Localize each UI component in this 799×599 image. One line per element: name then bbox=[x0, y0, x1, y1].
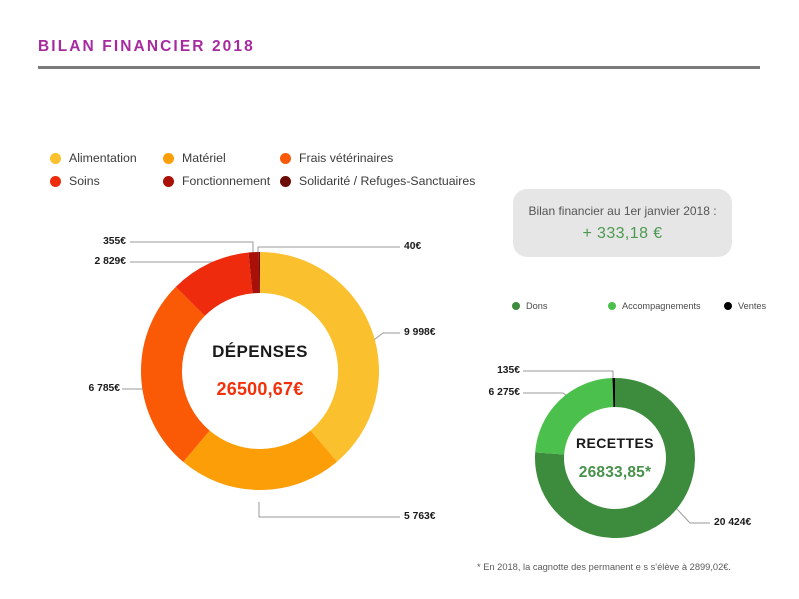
legend-label: Matériel bbox=[182, 151, 226, 165]
balance-summary-box: Bilan financier au 1er janvier 2018 : + … bbox=[513, 189, 732, 257]
legend-label: Accompagnements bbox=[622, 301, 701, 311]
callout-soins: 2 829€ bbox=[66, 256, 126, 267]
callout-frais-veterinaires: 6 785€ bbox=[60, 383, 120, 394]
legend-dot-icon bbox=[280, 153, 291, 164]
expenses-slice-frais-v-t-rinaires bbox=[162, 301, 197, 446]
expenses-legend: Alimentation Matériel Frais vétérinaires… bbox=[50, 148, 480, 194]
legend-item-materiel[interactable]: Matériel bbox=[163, 151, 280, 165]
legend-label: Alimentation bbox=[69, 151, 137, 165]
legend-item-frais-veterinaires[interactable]: Frais vétérinaires bbox=[280, 151, 480, 165]
callout-fonctionnement: 355€ bbox=[78, 236, 126, 247]
legend-dot-icon bbox=[50, 153, 61, 164]
expenses-slice-soins bbox=[190, 273, 250, 301]
legend-item-ventes[interactable]: Ventes bbox=[724, 301, 799, 311]
expenses-donut-chart: DÉPENSES 26500,67€ bbox=[141, 252, 379, 490]
callout-accompagnements: 6 275€ bbox=[470, 387, 520, 398]
legend-item-dons[interactable]: Dons bbox=[512, 301, 608, 311]
legend-dot-icon bbox=[608, 302, 616, 310]
legend-dot-icon bbox=[512, 302, 520, 310]
legend-item-fonctionnement[interactable]: Fonctionnement bbox=[163, 174, 280, 188]
income-legend: Dons Accompagnements Ventes bbox=[512, 301, 799, 311]
income-slice-accompagnements bbox=[550, 393, 613, 454]
legend-dot-icon bbox=[163, 153, 174, 164]
callout-materiel: 5 763€ bbox=[404, 511, 436, 522]
legend-item-accompagnements[interactable]: Accompagnements bbox=[608, 301, 724, 311]
leader-line-materiel bbox=[259, 502, 400, 517]
expenses-slice-alimentation bbox=[260, 273, 359, 447]
legend-item-soins[interactable]: Soins bbox=[50, 174, 163, 188]
page-title: BILAN FINANCIER 2018 bbox=[38, 38, 255, 56]
callout-dons: 20 424€ bbox=[714, 517, 751, 528]
legend-label: Fonctionnement bbox=[182, 174, 270, 188]
legend-dot-icon bbox=[50, 176, 61, 187]
balance-label: Bilan financier au 1er janvier 2018 : bbox=[528, 204, 716, 218]
footnote: * En 2018, la cagnotte des permanent e s… bbox=[477, 562, 731, 572]
callout-alimentation: 9 998€ bbox=[404, 327, 436, 338]
callout-solidarite: 40€ bbox=[404, 241, 421, 252]
income-donut-svg bbox=[535, 378, 695, 538]
legend-row: Soins Fonctionnement Solidarité / Refuge… bbox=[50, 171, 480, 191]
legend-dot-icon bbox=[724, 302, 732, 310]
legend-dot-icon bbox=[163, 176, 174, 187]
legend-label: Soins bbox=[69, 174, 100, 188]
legend-item-solidarite[interactable]: Solidarité / Refuges-Sanctuaires bbox=[280, 174, 480, 188]
expenses-slice-mat-riel bbox=[196, 446, 323, 469]
callout-ventes: 135€ bbox=[480, 365, 520, 376]
balance-value: + 333,18 € bbox=[582, 225, 662, 243]
legend-row: Alimentation Matériel Frais vétérinaires bbox=[50, 148, 480, 168]
title-divider bbox=[38, 66, 760, 69]
legend-item-alimentation[interactable]: Alimentation bbox=[50, 151, 163, 165]
legend-label: Dons bbox=[526, 301, 547, 311]
expenses-donut-svg bbox=[141, 252, 379, 490]
legend-dot-icon bbox=[280, 176, 291, 187]
legend-label: Ventes bbox=[738, 301, 766, 311]
income-donut-chart: RECETTES 26833,85* bbox=[535, 378, 695, 538]
legend-label: Frais vétérinaires bbox=[299, 151, 393, 165]
legend-label: Solidarité / Refuges-Sanctuaires bbox=[299, 174, 475, 188]
